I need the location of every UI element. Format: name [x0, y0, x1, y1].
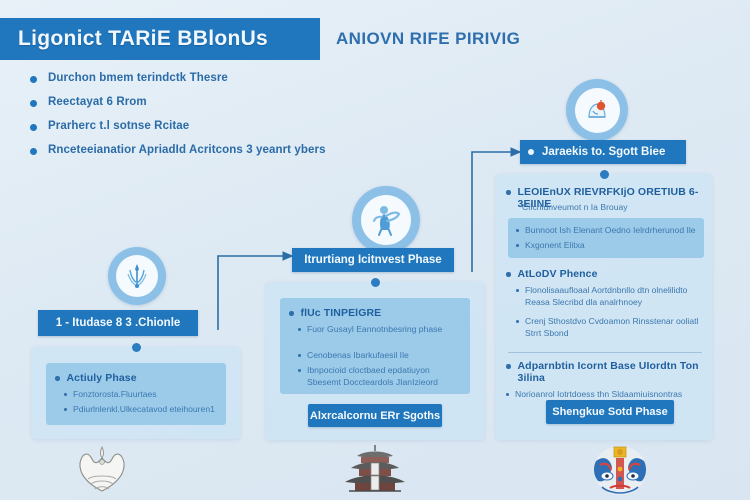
bullet-dot-icon — [30, 148, 37, 155]
middle-panel-extra-text: Cenobenas Ibarkufaesil Ile — [307, 350, 409, 362]
left-panel-sub-item: Pdiurlnlenkl.Ulkecatavod eteihouren1 — [64, 404, 218, 416]
middle-panel-heading-item: flUc TINPElGRE — [289, 307, 461, 319]
right-column-icon-badge — [566, 79, 628, 141]
page-subtitle: ANIOVN RIFE PIRIVIG — [336, 29, 520, 49]
left-panel-heading-item: Actiuly Phase — [55, 372, 218, 384]
right-inner-box-list: Bunnoot Ish Elenant Oedno Ielrdrherunod … — [508, 218, 704, 251]
left-panel-sub-text: Pdiurlnlenkl.Ulkecatavod eteihouren1 — [73, 404, 215, 416]
bullet-dot-icon — [516, 244, 519, 247]
bullet-dot-icon — [528, 149, 534, 155]
right-panel-section-3: Adparnbtin Icornt Base UIordtn Ton 3ilin… — [506, 360, 708, 401]
right-section2-sub-text: Flonolisaaufloaal Aortdnbnllo dtn olneli… — [525, 285, 706, 308]
right-inner-box-text: Bunnoot Ish Elenant Oedno Ielrdrherunod … — [525, 225, 696, 237]
right-panel-phase-button-label: Shengkue Sotd Phase — [552, 406, 668, 418]
bullet-dot-icon — [516, 229, 519, 232]
middle-panel-heading-text: flUc TINPElGRE — [301, 307, 382, 319]
intro-bullet-item: Rnceteeianatior ApriadId Acritcons 3 yea… — [30, 144, 460, 156]
left-column-panel: Actiuly Phase Fonztorosta.Fluurtaes Pdiu… — [32, 347, 240, 439]
middle-panel-extra-text: Ibnpocioid cloctbaed epdatiuyon Sbesemt … — [307, 365, 461, 388]
right-column-panel: LEOIEnUX RIEVRFKIjO ORETIUB 6-3EIINE CiI… — [496, 174, 712, 440]
intro-bullet-item: Reectayat 6 Rrom — [30, 96, 460, 108]
intro-bullet-item: Durchon bmem terindctk Thesre — [30, 72, 460, 84]
bullet-dot-icon — [64, 408, 67, 411]
right-section2-heading-item: AtLoDV Phence — [506, 268, 706, 280]
bullet-dot-icon — [55, 376, 60, 381]
right-column-title-text: Jaraekis to. Sgott Biee — [542, 146, 665, 158]
right-panel-phase-button[interactable]: Shengkue Sotd Phase — [546, 400, 674, 424]
left-panel-sub-item: Fonztorosta.Fluurtaes — [64, 389, 218, 401]
intro-bullet-text: Reectayat 6 Rrom — [48, 96, 147, 108]
left-column-title-text: 1 - Itudase 8 3 .Chionle — [56, 317, 181, 329]
left-panel-list: Actiuly Phase Fonztorosta.Fluurtaes Pdiu… — [46, 363, 226, 415]
right-section3-text: Norioanrol Iotrtdoess thn Sldaamiuisnont… — [515, 389, 682, 401]
footer-art-crown — [62, 443, 142, 500]
right-panel-inner-box: Bunnoot Ish Elenant Oedno Ielrdrherunod … — [508, 218, 704, 258]
page-title: Ligonict TARiE BBlonUs — [18, 27, 268, 51]
middle-panel-phase-button[interactable]: Alxrcalcornu ERr Sgoths — [308, 404, 442, 427]
footer-art-pagoda — [335, 443, 415, 500]
right-column-title[interactable]: Jaraekis to. Sgott Biee — [520, 140, 686, 164]
right-section1-subtext: CiIchidnveumot n Ia Brouay — [522, 202, 706, 214]
header-title-block: Ligonict TARiE BBlonUs — [0, 18, 320, 60]
middle-column-title[interactable]: Itrurtiang Icitnvest Phase — [292, 248, 454, 272]
left-panel-inner-box: Actiuly Phase Fonztorosta.Fluurtaes Pdiu… — [46, 363, 226, 425]
bullet-dot-icon — [30, 124, 37, 131]
dancer-figure-icon — [367, 201, 405, 239]
right-inner-box-text: Kxgonent Elitxa — [525, 240, 585, 252]
intro-bullet-item: Prarherc t.l sotnse Rcitae — [30, 120, 460, 132]
jade-ornament-icon — [122, 261, 152, 291]
intro-bullet-list: Durchon bmem terindctk Thesre Reectayat … — [30, 72, 460, 168]
footer-art-opera-mask — [580, 443, 660, 500]
middle-column-panel: flUc TINPElGRE Fuor Gusayl Eannotnbesrin… — [266, 282, 484, 440]
right-section2-sub-text: Crenj Sthostdvo Cvdoamon Rinsstenar ooli… — [525, 316, 706, 339]
middle-column-icon-badge — [352, 186, 420, 254]
left-column-title[interactable]: 1 - Itudase 8 3 .Chionle — [38, 310, 198, 336]
bullet-dot-icon — [298, 328, 301, 331]
bullet-dot-icon — [298, 354, 301, 357]
panel-connector-dot-icon — [600, 170, 609, 179]
middle-panel-extra-item: Cenobenas Ibarkufaesil Ile — [298, 350, 461, 362]
intro-bullet-text: Durchon bmem terindctk Thesre — [48, 72, 228, 84]
bullet-dot-icon — [30, 76, 37, 83]
right-panel-divider — [508, 352, 702, 353]
right-inner-box-item: Kxgonent Elitxa — [516, 240, 697, 252]
middle-panel-list: flUc TINPElGRE Fuor Gusayl Eannotnbesrin… — [280, 298, 470, 388]
intro-bullet-text: Prarherc t.l sotnse Rcitae — [48, 120, 189, 132]
bullet-dot-icon — [298, 369, 301, 372]
middle-panel-sub-text: Fuor Gusayl Eannotnbesring phase — [307, 324, 442, 336]
bullet-dot-icon — [30, 100, 37, 107]
left-panel-sub-text: Fonztorosta.Fluurtaes — [73, 389, 157, 401]
bullet-dot-icon — [506, 393, 509, 396]
left-column-icon-badge — [108, 247, 166, 305]
bullet-dot-icon — [506, 190, 511, 195]
middle-panel-inner-box: flUc TINPElGRE Fuor Gusayl Eannotnbesrin… — [280, 298, 470, 394]
right-section2-sub-item: Flonolisaaufloaal Aortdnbnllo dtn olneli… — [516, 285, 706, 308]
right-panel-section-2: AtLoDV Phence Flonolisaaufloaal Aortdnbn… — [506, 268, 706, 339]
right-section3-text: Adparnbtin Icornt Base UIordtn Ton 3ilin… — [518, 360, 709, 384]
panel-connector-dot-icon — [371, 278, 380, 287]
bullet-dot-icon — [516, 289, 519, 292]
right-section2-sub-item: Crenj Sthostdvo Cvdoamon Rinsstenar ooli… — [516, 316, 706, 339]
lantern-figure-icon — [580, 93, 614, 127]
page-header: Ligonict TARiE BBlonUs ANIOVN RIFE PIRIV… — [0, 18, 750, 60]
right-section3-item: Adparnbtin Icornt Base UIordtn Ton 3ilin… — [506, 360, 708, 384]
bullet-dot-icon — [64, 393, 67, 396]
left-panel-heading-text: Actiuly Phase — [67, 372, 137, 384]
right-inner-box-item: Bunnoot Ish Elenant Oedno Ielrdrherunod … — [516, 225, 697, 237]
middle-panel-phase-button-label: Alxrcalcornu ERr Sgoths — [310, 410, 440, 422]
bullet-dot-icon — [506, 272, 511, 277]
bullet-dot-icon — [516, 320, 519, 323]
middle-column-title-text: Itrurtiang Icitnvest Phase — [304, 254, 441, 266]
bullet-dot-icon — [289, 311, 294, 316]
header-subtitle-block: ANIOVN RIFE PIRIVIG — [320, 18, 750, 60]
bullet-dot-icon — [506, 364, 511, 369]
right-section2-heading-text: AtLoDV Phence — [518, 268, 598, 280]
right-section3-item: Norioanrol Iotrtdoess thn Sldaamiuisnont… — [506, 389, 708, 401]
panel-connector-dot-icon — [132, 343, 141, 352]
intro-bullet-text: Rnceteeianatior ApriadId Acritcons 3 yea… — [48, 144, 326, 156]
middle-panel-sub-item: Fuor Gusayl Eannotnbesring phase — [298, 324, 461, 336]
middle-panel-extra-item: Ibnpocioid cloctbaed epdatiuyon Sbesemt … — [298, 365, 461, 388]
